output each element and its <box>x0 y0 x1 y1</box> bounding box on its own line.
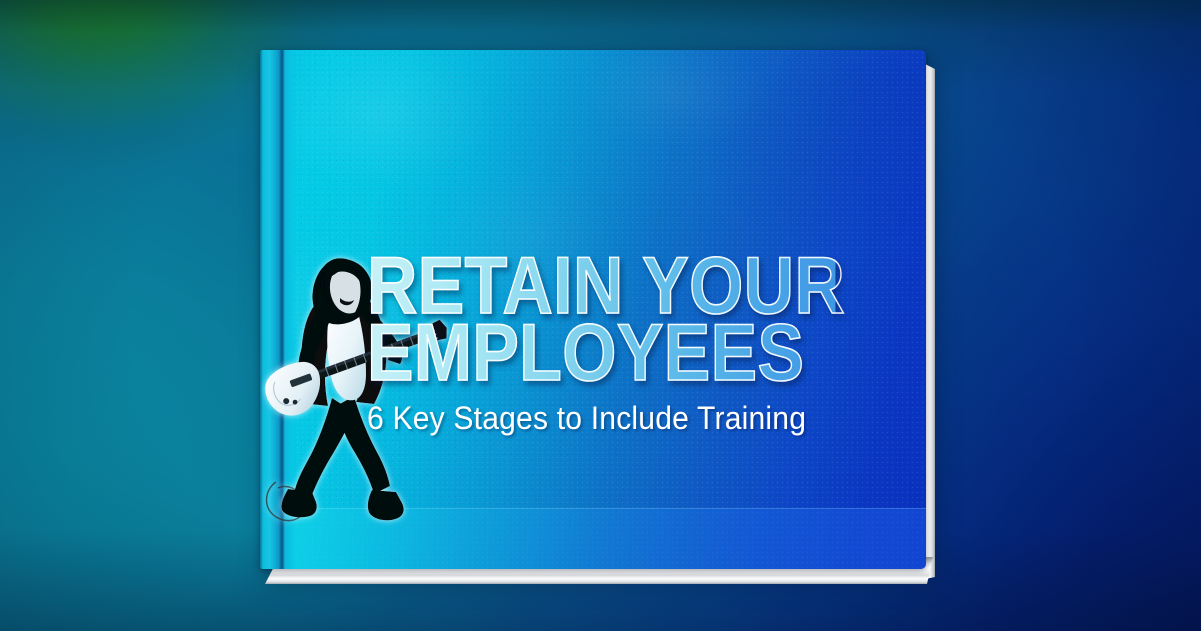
book-mockup: RETAIN YOUR EMPLOYEES 6 Key Stages to In… <box>259 49 943 585</box>
cover-type-block: RETAIN YOUR EMPLOYEES 6 Key Stages to In… <box>367 254 912 437</box>
book-front-cover: RETAIN YOUR EMPLOYEES 6 Key Stages to In… <box>260 50 926 569</box>
cover-subtitle: 6 Key Stages to Include Training <box>367 400 879 437</box>
book-cover-mockup-canvas: RETAIN YOUR EMPLOYEES 6 Key Stages to In… <box>0 0 1201 631</box>
cover-spine-edge <box>260 50 263 569</box>
cover-title-line-2: EMPLOYEES <box>367 321 836 386</box>
